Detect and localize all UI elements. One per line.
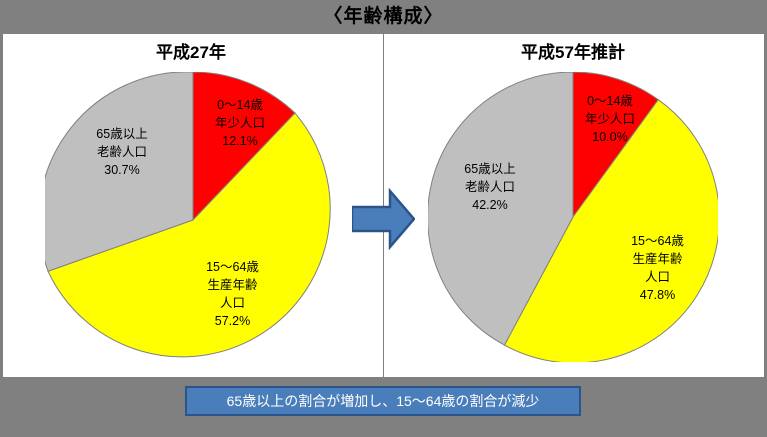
right-pie-svg	[428, 72, 718, 362]
page-title: 〈年齢構成〉	[323, 7, 443, 26]
left-chart-subtitle: 平成27年	[46, 44, 336, 61]
left-pie-chart	[45, 72, 341, 368]
summary-caption: 65歳以上の割合が増加し、15〜64歳の割合が減少	[185, 386, 581, 416]
title-band: 〈年齢構成〉	[0, 0, 767, 33]
arrow-right-svg	[352, 188, 415, 250]
summary-caption-text: 65歳以上の割合が増加し、15〜64歳の割合が減少	[227, 394, 540, 408]
right-pie-chart	[428, 72, 718, 362]
arrow-right-icon	[352, 188, 415, 250]
right-chart-subtitle: 平成57年推計	[428, 44, 718, 61]
age-composition-figure: 〈年齢構成〉 平成27年 平成57年推計 0〜14歳 年少人口 12.1% 65…	[0, 0, 767, 437]
left-pie-svg	[45, 72, 341, 368]
